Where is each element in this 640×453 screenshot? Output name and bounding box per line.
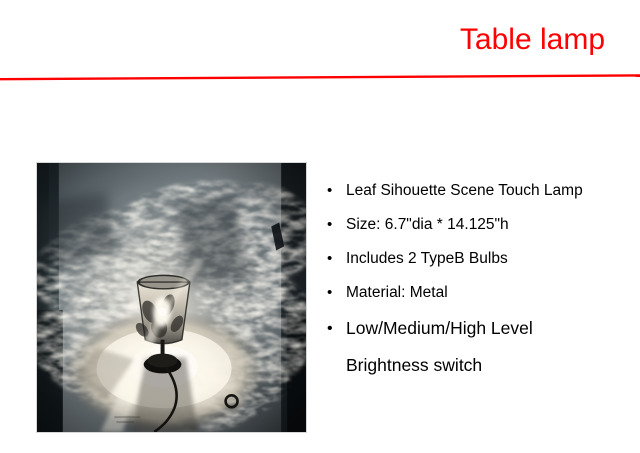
title-divider — [0, 74, 640, 78]
bullet-marker-icon: • — [322, 316, 346, 341]
bullet-marker-icon: • — [322, 214, 346, 236]
feature-bullet-list: • Leaf Sihouette Scene Touch Lamp • Size… — [322, 180, 634, 378]
bullet-marker-icon: • — [322, 180, 346, 202]
list-item: • Material: Metal — [322, 282, 634, 304]
list-item-label: Material: Metal — [346, 282, 634, 304]
list-item: • Size: 6.7"dia * 14.125"h — [322, 214, 634, 236]
list-item-label: Size: 6.7"dia * 14.125"h — [346, 214, 634, 236]
bullet-marker-icon: • — [322, 282, 346, 304]
page-title: Table lamp — [460, 22, 605, 58]
list-item-label-continuation: Brightness switch — [346, 353, 634, 378]
list-item: • Low/Medium/High Level — [322, 316, 634, 341]
list-item: • Includes 2 TypeB Bulbs — [322, 248, 634, 270]
list-item-label: Includes 2 TypeB Bulbs — [346, 248, 634, 270]
list-item-label: Leaf Sihouette Scene Touch Lamp — [346, 180, 634, 202]
list-item: • Leaf Sihouette Scene Touch Lamp — [322, 180, 634, 202]
list-item-label: Low/Medium/High Level — [346, 316, 634, 341]
slide: Table lamp — [0, 0, 640, 453]
lamp-photo — [36, 162, 307, 433]
bullet-marker-icon: • — [322, 248, 346, 270]
